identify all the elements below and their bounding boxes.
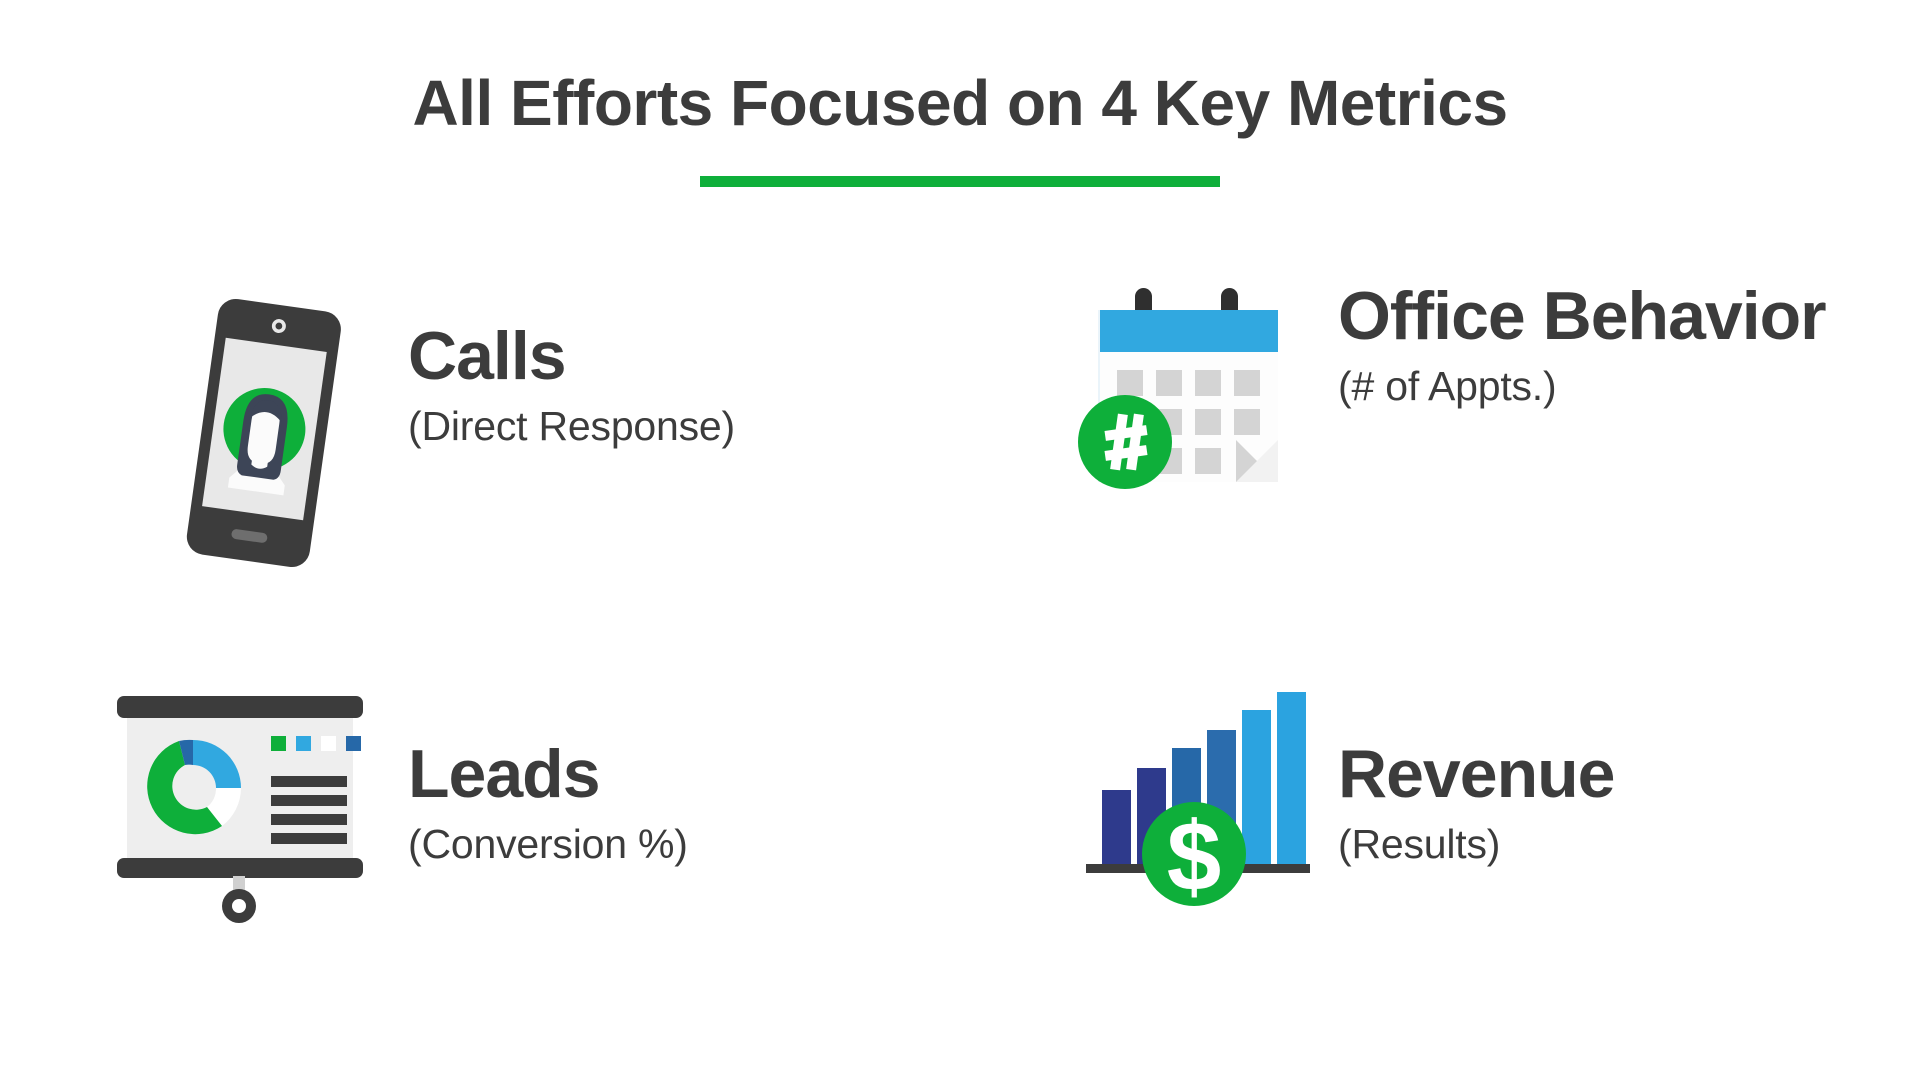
title-block: All Efforts Focused on 4 Key Metrics: [0, 0, 1920, 187]
presentation-donut-chart-icon: [90, 690, 390, 930]
metric-card-leads[interactable]: Leads (Conversion %): [0, 662, 960, 1042]
metric-subtitle-revenue: (Results): [1338, 821, 1920, 868]
metric-card-office-behavior[interactable]: Office Behavior (# of Appts.): [960, 282, 1920, 662]
smartphone-contact-icon: [114, 292, 414, 572]
metric-card-revenue[interactable]: $ Revenue (Results): [960, 662, 1920, 1042]
metric-text-revenue: Revenue (Results): [1338, 662, 1920, 868]
title-divider-rule: [700, 176, 1220, 187]
svg-text:$: $: [1167, 801, 1222, 911]
metric-subtitle-office-behavior: (# of Appts.): [1338, 363, 1920, 410]
metric-text-calls: Calls (Direct Response): [408, 282, 960, 450]
metric-subtitle-leads: (Conversion %): [408, 821, 960, 868]
page-title: All Efforts Focused on 4 Key Metrics: [0, 68, 1920, 138]
metric-name-revenue: Revenue: [1338, 740, 1920, 809]
metric-subtitle-calls: (Direct Response): [408, 403, 960, 450]
bar-chart-dollar-icon: $: [1048, 684, 1348, 904]
calendar-hash-icon: [1038, 282, 1338, 512]
metric-text-office-behavior: Office Behavior (# of Appts.): [1338, 282, 1920, 410]
metrics-grid: Calls (Direct Response): [0, 282, 1920, 1042]
metric-card-calls[interactable]: Calls (Direct Response): [0, 282, 960, 662]
metric-name-calls: Calls: [408, 322, 960, 391]
metric-name-office-behavior: Office Behavior: [1338, 282, 1920, 351]
metric-name-leads: Leads: [408, 740, 960, 809]
metric-text-leads: Leads (Conversion %): [408, 662, 960, 868]
